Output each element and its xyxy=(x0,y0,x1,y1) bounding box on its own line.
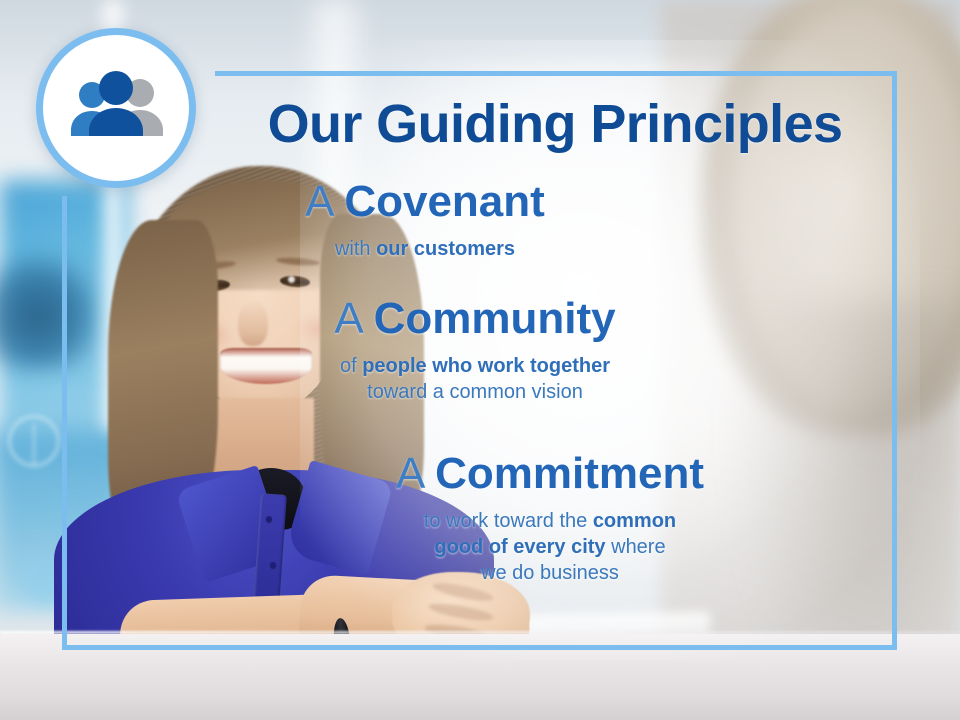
subtext-plain: to work toward the xyxy=(424,510,593,532)
subtext-emphasis: people who work together xyxy=(362,355,610,377)
subtext-plain: of xyxy=(340,355,362,377)
banner-content: Our Guiding Principles A Covenant with o… xyxy=(0,0,960,720)
principle-covenant-heading: A Covenant xyxy=(145,178,705,226)
subtext-emphasis: our customers xyxy=(376,238,515,260)
principle-keyword: Covenant xyxy=(344,177,544,226)
principle-commitment-subtext: to work toward the commongood of every c… xyxy=(270,508,830,587)
principle-keyword: Commitment xyxy=(435,449,704,498)
principle-subtext-line: toward a common vision xyxy=(195,379,755,405)
principle-subtext-line: we do business xyxy=(270,560,830,586)
subtext-plain: toward a common vision xyxy=(367,381,583,403)
principle-article: A xyxy=(334,294,373,343)
banner-stage: FLOW AUTOMOTIVE FLOW xyxy=(0,0,960,720)
principle-keyword: Community xyxy=(374,294,616,343)
principle-community: A Community of people who work togethert… xyxy=(195,295,755,405)
principle-subtext-line: to work toward the common xyxy=(270,508,830,534)
subtext-plain: where xyxy=(606,536,666,558)
principle-covenant-subtext: with our customers xyxy=(145,236,705,262)
subtext-emphasis: common xyxy=(593,510,676,532)
subtext-plain: with xyxy=(335,238,376,260)
principle-article: A xyxy=(396,449,435,498)
principle-commitment: A Commitment to work toward the commongo… xyxy=(270,450,830,587)
principle-commitment-heading: A Commitment xyxy=(270,450,830,498)
principle-community-subtext: of people who work togethertoward a comm… xyxy=(195,353,755,406)
page-title: Our Guiding Principles xyxy=(220,96,890,153)
principle-subtext-line: good of every city where xyxy=(270,534,830,560)
subtext-plain: we do business xyxy=(481,562,619,584)
subtext-emphasis: good of every city xyxy=(434,536,605,558)
principle-subtext-line: of people who work together xyxy=(195,353,755,379)
principle-article: A xyxy=(305,177,344,226)
principle-community-heading: A Community xyxy=(195,295,755,343)
principle-subtext-line: with our customers xyxy=(145,236,705,262)
principle-covenant: A Covenant with our customers xyxy=(145,178,705,262)
